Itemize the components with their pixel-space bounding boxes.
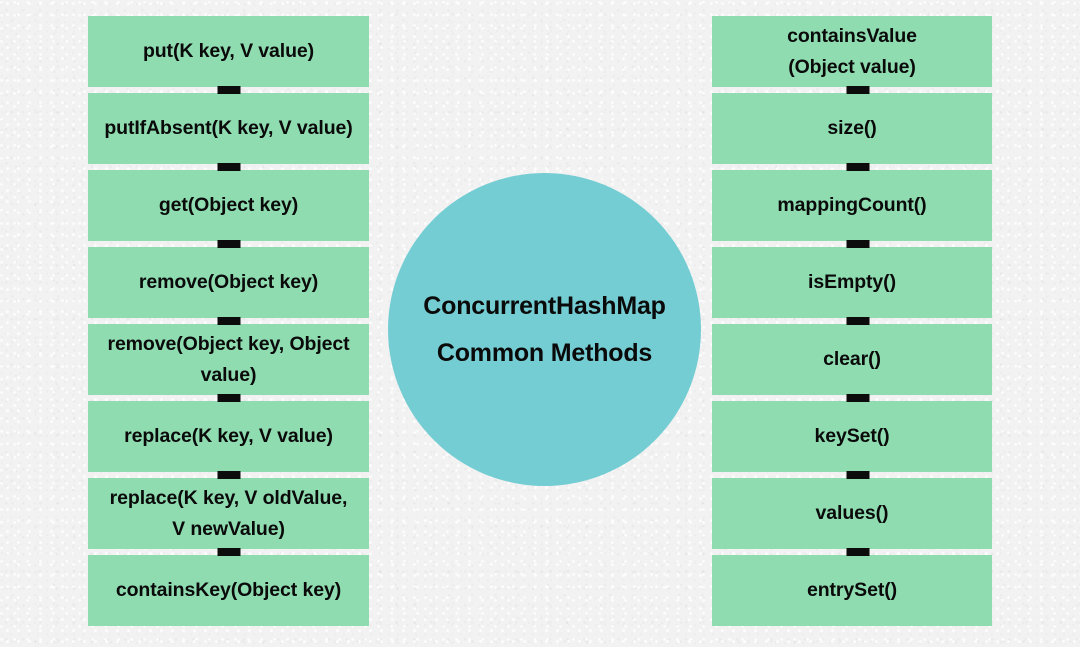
connector-tab-icon	[217, 471, 240, 479]
method-label: mappingCount()	[777, 190, 926, 221]
method-label: values()	[816, 498, 889, 529]
method-label: remove(Object key, Object value)	[107, 329, 349, 391]
method-label: replace(K key, V oldValue, V newValue)	[110, 483, 348, 545]
connector-tab-icon	[846, 86, 869, 94]
method-label: isEmpty()	[808, 267, 896, 298]
method-box-keyset[interactable]: keySet()	[712, 401, 992, 472]
connector-tab-icon	[217, 394, 240, 402]
concurrenthashmap-methods-diagram: put(K key, V value) putIfAbsent(K key, V…	[0, 0, 1080, 647]
method-box-remove-key[interactable]: remove(Object key)	[88, 247, 369, 318]
method-label: putIfAbsent(K key, V value)	[104, 113, 352, 144]
method-box-containsvalue[interactable]: containsValue (Object value)	[712, 16, 992, 87]
method-label: keySet()	[814, 421, 889, 452]
method-box-replace[interactable]: replace(K key, V value)	[88, 401, 369, 472]
method-label: containsKey(Object key)	[116, 575, 341, 606]
center-hub: ConcurrentHashMap Common Methods	[388, 173, 701, 486]
connector-tab-icon	[846, 240, 869, 248]
connector-tab-icon	[217, 240, 240, 248]
connector-tab-icon	[217, 163, 240, 171]
method-box-replace-old-new[interactable]: replace(K key, V oldValue, V newValue)	[88, 478, 369, 549]
method-label: get(Object key)	[159, 190, 298, 221]
method-label: put(K key, V value)	[143, 36, 314, 67]
connector-tab-icon	[217, 86, 240, 94]
method-label: remove(Object key)	[139, 267, 318, 298]
connector-tab-icon	[846, 317, 869, 325]
method-label: containsValue (Object value)	[787, 21, 917, 83]
connector-tab-icon	[846, 548, 869, 556]
method-label: size()	[827, 113, 876, 144]
center-hub-title-line1: ConcurrentHashMap	[423, 283, 665, 329]
method-box-get[interactable]: get(Object key)	[88, 170, 369, 241]
method-box-isempty[interactable]: isEmpty()	[712, 247, 992, 318]
method-label: replace(K key, V value)	[124, 421, 333, 452]
connector-tab-icon	[846, 394, 869, 402]
center-hub-title-line2: Common Methods	[437, 330, 652, 376]
method-box-containskey[interactable]: containsKey(Object key)	[88, 555, 369, 626]
left-method-column: put(K key, V value) putIfAbsent(K key, V…	[88, 16, 369, 626]
method-label: clear()	[823, 344, 881, 375]
method-box-putifabsent[interactable]: putIfAbsent(K key, V value)	[88, 93, 369, 164]
method-box-size[interactable]: size()	[712, 93, 992, 164]
right-method-column: containsValue (Object value) size() mapp…	[712, 16, 992, 626]
method-box-put[interactable]: put(K key, V value)	[88, 16, 369, 87]
method-box-mappingcount[interactable]: mappingCount()	[712, 170, 992, 241]
method-label: entrySet()	[807, 575, 897, 606]
connector-tab-icon	[846, 163, 869, 171]
method-box-values[interactable]: values()	[712, 478, 992, 549]
connector-tab-icon	[846, 471, 869, 479]
connector-tab-icon	[217, 548, 240, 556]
method-box-clear[interactable]: clear()	[712, 324, 992, 395]
method-box-entryset[interactable]: entrySet()	[712, 555, 992, 626]
connector-tab-icon	[217, 317, 240, 325]
method-box-remove-key-value[interactable]: remove(Object key, Object value)	[88, 324, 369, 395]
